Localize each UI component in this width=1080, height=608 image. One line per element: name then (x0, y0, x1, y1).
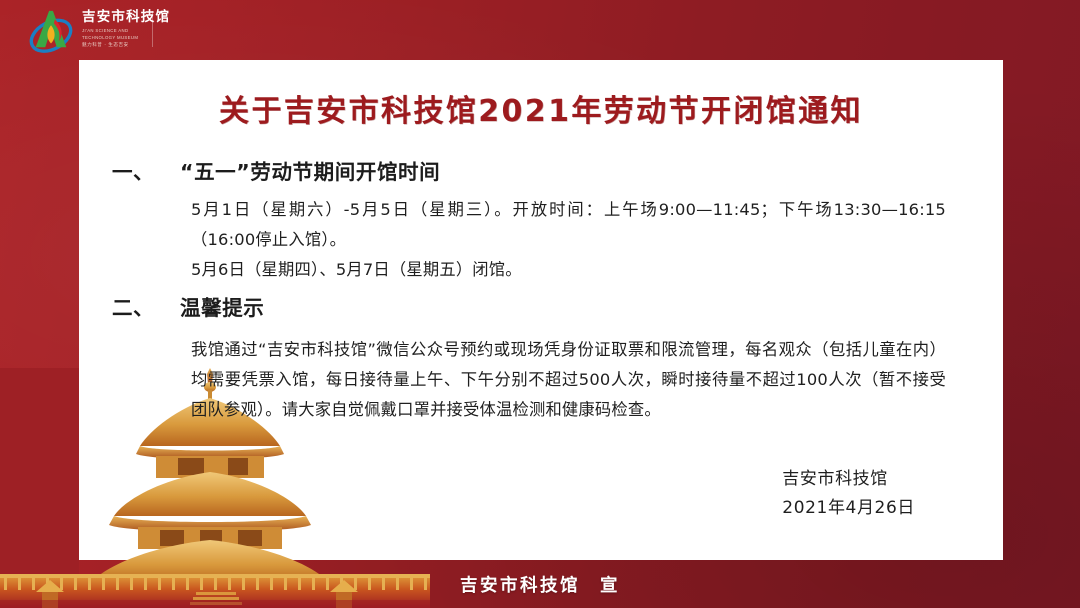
logo-wordmark: 吉安市科技馆 JI'AN SCIENCE AND TECHNOLOGY MUSE… (82, 11, 170, 49)
section-number-2: 二、 (112, 291, 180, 321)
notice-poster: 吉安市科技馆 JI'AN SCIENCE AND TECHNOLOGY MUSE… (0, 0, 1080, 608)
flame-swoosh-logo-icon (27, 7, 75, 53)
logo-name-en: JI'AN SCIENCE AND TECHNOLOGY MUSEUM (82, 28, 170, 41)
logo-slogan: 魅力科普 · 生态吉安 (82, 44, 170, 49)
section-number-1: 一、 (112, 155, 180, 185)
museum-logo: 吉安市科技馆 JI'AN SCIENCE AND TECHNOLOGY MUSE… (27, 7, 170, 53)
logo-name-cn: 吉安市科技馆 (82, 11, 170, 25)
section-1-paragraph-1: 5月1日（星期六）-5月5日（星期三）。开放时间：上午场9:00—11:45；下… (191, 195, 946, 255)
section-title-2: 温馨提示 (180, 291, 264, 321)
section-title-1: “五一”劳动节期间开馆时间 (180, 155, 440, 185)
signature-block: 吉安市科技馆 2021年4月26日 (782, 465, 915, 523)
section-heading-2: 二、 温馨提示 (112, 291, 264, 321)
footer-text: 吉安市科技馆 宣 (460, 572, 620, 597)
section-1-paragraph-2: 5月6日（星期四）、5月7日（星期五）闭馆。 (191, 255, 946, 285)
page-title: 关于吉安市科技馆2021年劳动节开闭馆通知 (79, 86, 1003, 130)
logo-name-en-line2: TECHNOLOGY MUSEUM (82, 35, 170, 42)
section-2-paragraph-1: 我馆通过“吉安市科技馆”微信公众号预约或现场凭身份证取票和限流管理，每名观众（包… (191, 335, 946, 425)
poster-footer: 吉安市科技馆 宣 (0, 560, 1080, 608)
masthead-divider (152, 11, 153, 47)
signature-organization: 吉安市科技馆 (782, 465, 915, 494)
signature-date: 2021年4月26日 (782, 494, 915, 523)
section-heading-1: 一、 “五一”劳动节期间开馆时间 (112, 155, 440, 185)
logo-name-en-line1: JI'AN SCIENCE AND (82, 28, 170, 35)
